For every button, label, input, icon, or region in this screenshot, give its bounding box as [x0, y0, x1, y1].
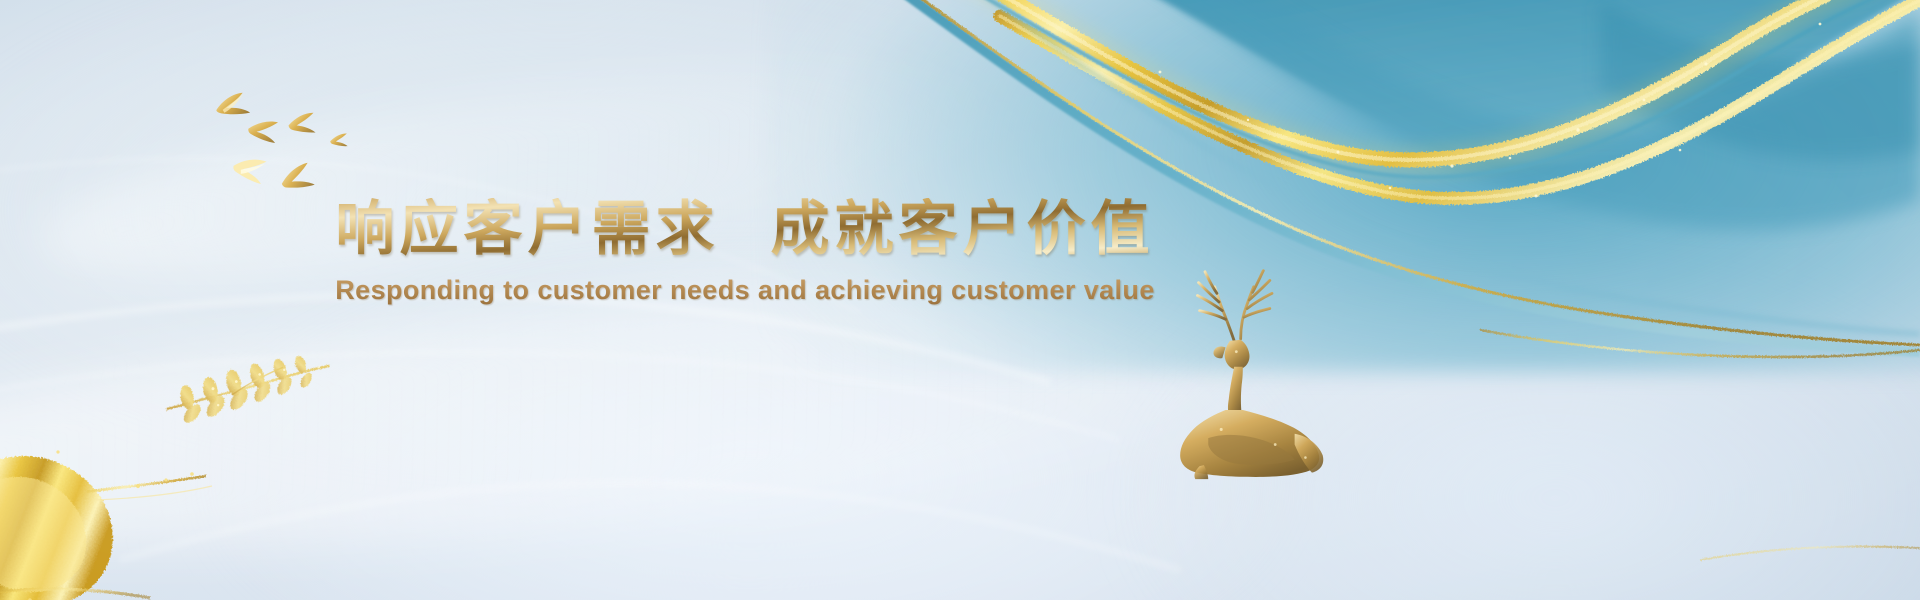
banner-headline: 响应客户需求 成就客户价值: [0, 198, 1490, 261]
banner-text-block: 响应客户需求 成就客户价值 Responding to customer nee…: [0, 198, 1490, 306]
teal-marble-wash: [768, 0, 1920, 372]
banner-subtitle: Responding to customer needs and achievi…: [0, 275, 1490, 306]
hero-banner: 响应客户需求 成就客户价值 Responding to customer nee…: [0, 0, 1920, 600]
